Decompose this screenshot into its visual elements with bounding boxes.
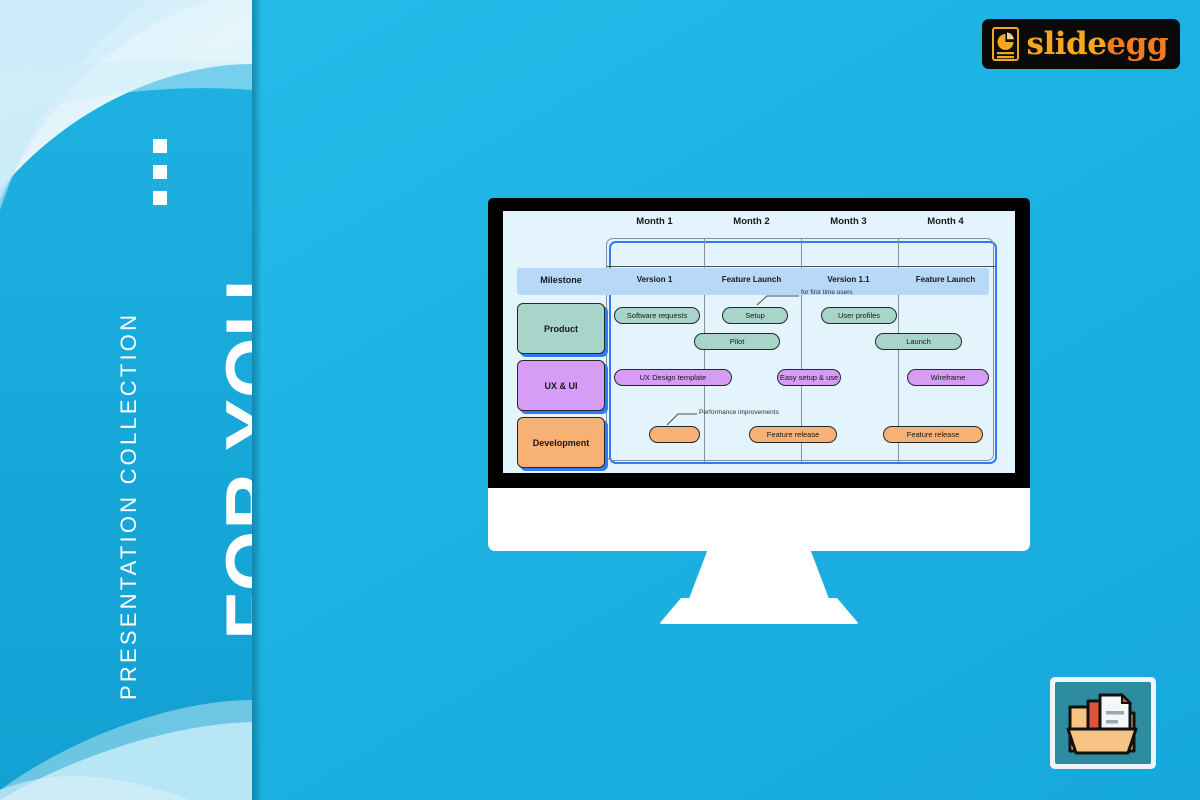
row-label-product[interactable]: Product xyxy=(517,303,605,354)
slideegg-logo[interactable]: slideegg xyxy=(982,19,1180,69)
logo-text-egg: egg xyxy=(1106,26,1168,62)
milestone-month-2: Feature Launch xyxy=(703,275,800,284)
annotation-performance-improvements: Performance improvements xyxy=(699,409,779,416)
monitor-stand-base xyxy=(659,598,859,624)
column-header-month-4: Month 4 xyxy=(897,216,994,227)
milestone-month-1: Version 1 xyxy=(606,275,703,284)
milestone-month-3: Version 1.1 xyxy=(800,275,897,284)
task-pill-feature-release-m2[interactable]: Feature release xyxy=(749,426,837,443)
task-pill-ux-design-template[interactable]: UX Design template xyxy=(614,369,732,386)
task-pill-wireframe[interactable]: Wireframe xyxy=(907,369,989,386)
presentation-slide: FOR YOU... PRESENTATION COLLECTION slide… xyxy=(0,0,1200,800)
monitor-stand-neck xyxy=(687,551,831,604)
row-label-ux-ui[interactable]: UX & UI xyxy=(517,360,605,411)
task-pill-feature-release-m4[interactable]: Feature release xyxy=(883,426,983,443)
monitor-mockup: Month 1 Month 2 Month 3 Month 4 Mileston… xyxy=(488,198,1030,628)
column-header-month-3: Month 3 xyxy=(800,216,897,227)
milestone-month-4: Feature Launch xyxy=(897,275,994,284)
task-pill-easy-setup-use[interactable]: Easy setup & use xyxy=(777,369,841,386)
logo-wordmark: slideegg xyxy=(1027,26,1168,62)
task-pill-launch[interactable]: Launch xyxy=(875,333,962,350)
task-pill-software-requests[interactable]: Software requests xyxy=(614,307,700,324)
folder-badge[interactable] xyxy=(1050,677,1156,769)
monitor-screen: Month 1 Month 2 Month 3 Month 4 Mileston… xyxy=(503,211,1015,473)
panel-edge-shadow xyxy=(252,0,261,800)
roadmap-chart: Month 1 Month 2 Month 3 Month 4 Mileston… xyxy=(503,211,1015,473)
logo-text-slide: slide xyxy=(1027,26,1107,62)
task-pill-user-profiles[interactable]: User profiles xyxy=(821,307,897,324)
slide-subheading: PRESENTATION COLLECTION xyxy=(118,312,140,700)
column-header-month-2: Month 2 xyxy=(703,216,800,227)
monitor-body xyxy=(488,488,1030,551)
task-pill-setup[interactable]: Setup xyxy=(722,307,788,324)
task-pill-pilot[interactable]: Pilot xyxy=(694,333,780,350)
folder-with-document-icon xyxy=(1064,689,1142,757)
annotation-leader-line-performance xyxy=(666,410,698,426)
folder-badge-inner xyxy=(1055,682,1151,764)
row-label-milestone: Milestone xyxy=(517,275,605,285)
task-pill-performance-improvements[interactable] xyxy=(649,426,700,443)
annotation-leader-line-setup xyxy=(756,292,800,306)
ellipsis-squares xyxy=(153,139,167,205)
slide-headline: FOR YOU... xyxy=(214,211,252,640)
left-decorative-panel: FOR YOU... PRESENTATION COLLECTION xyxy=(0,0,252,800)
pie-chart-document-icon xyxy=(992,27,1019,61)
row-label-development[interactable]: Development xyxy=(517,417,605,468)
annotation-for-first-time-users: for first time users xyxy=(801,289,853,296)
column-header-month-1: Month 1 xyxy=(606,216,703,227)
